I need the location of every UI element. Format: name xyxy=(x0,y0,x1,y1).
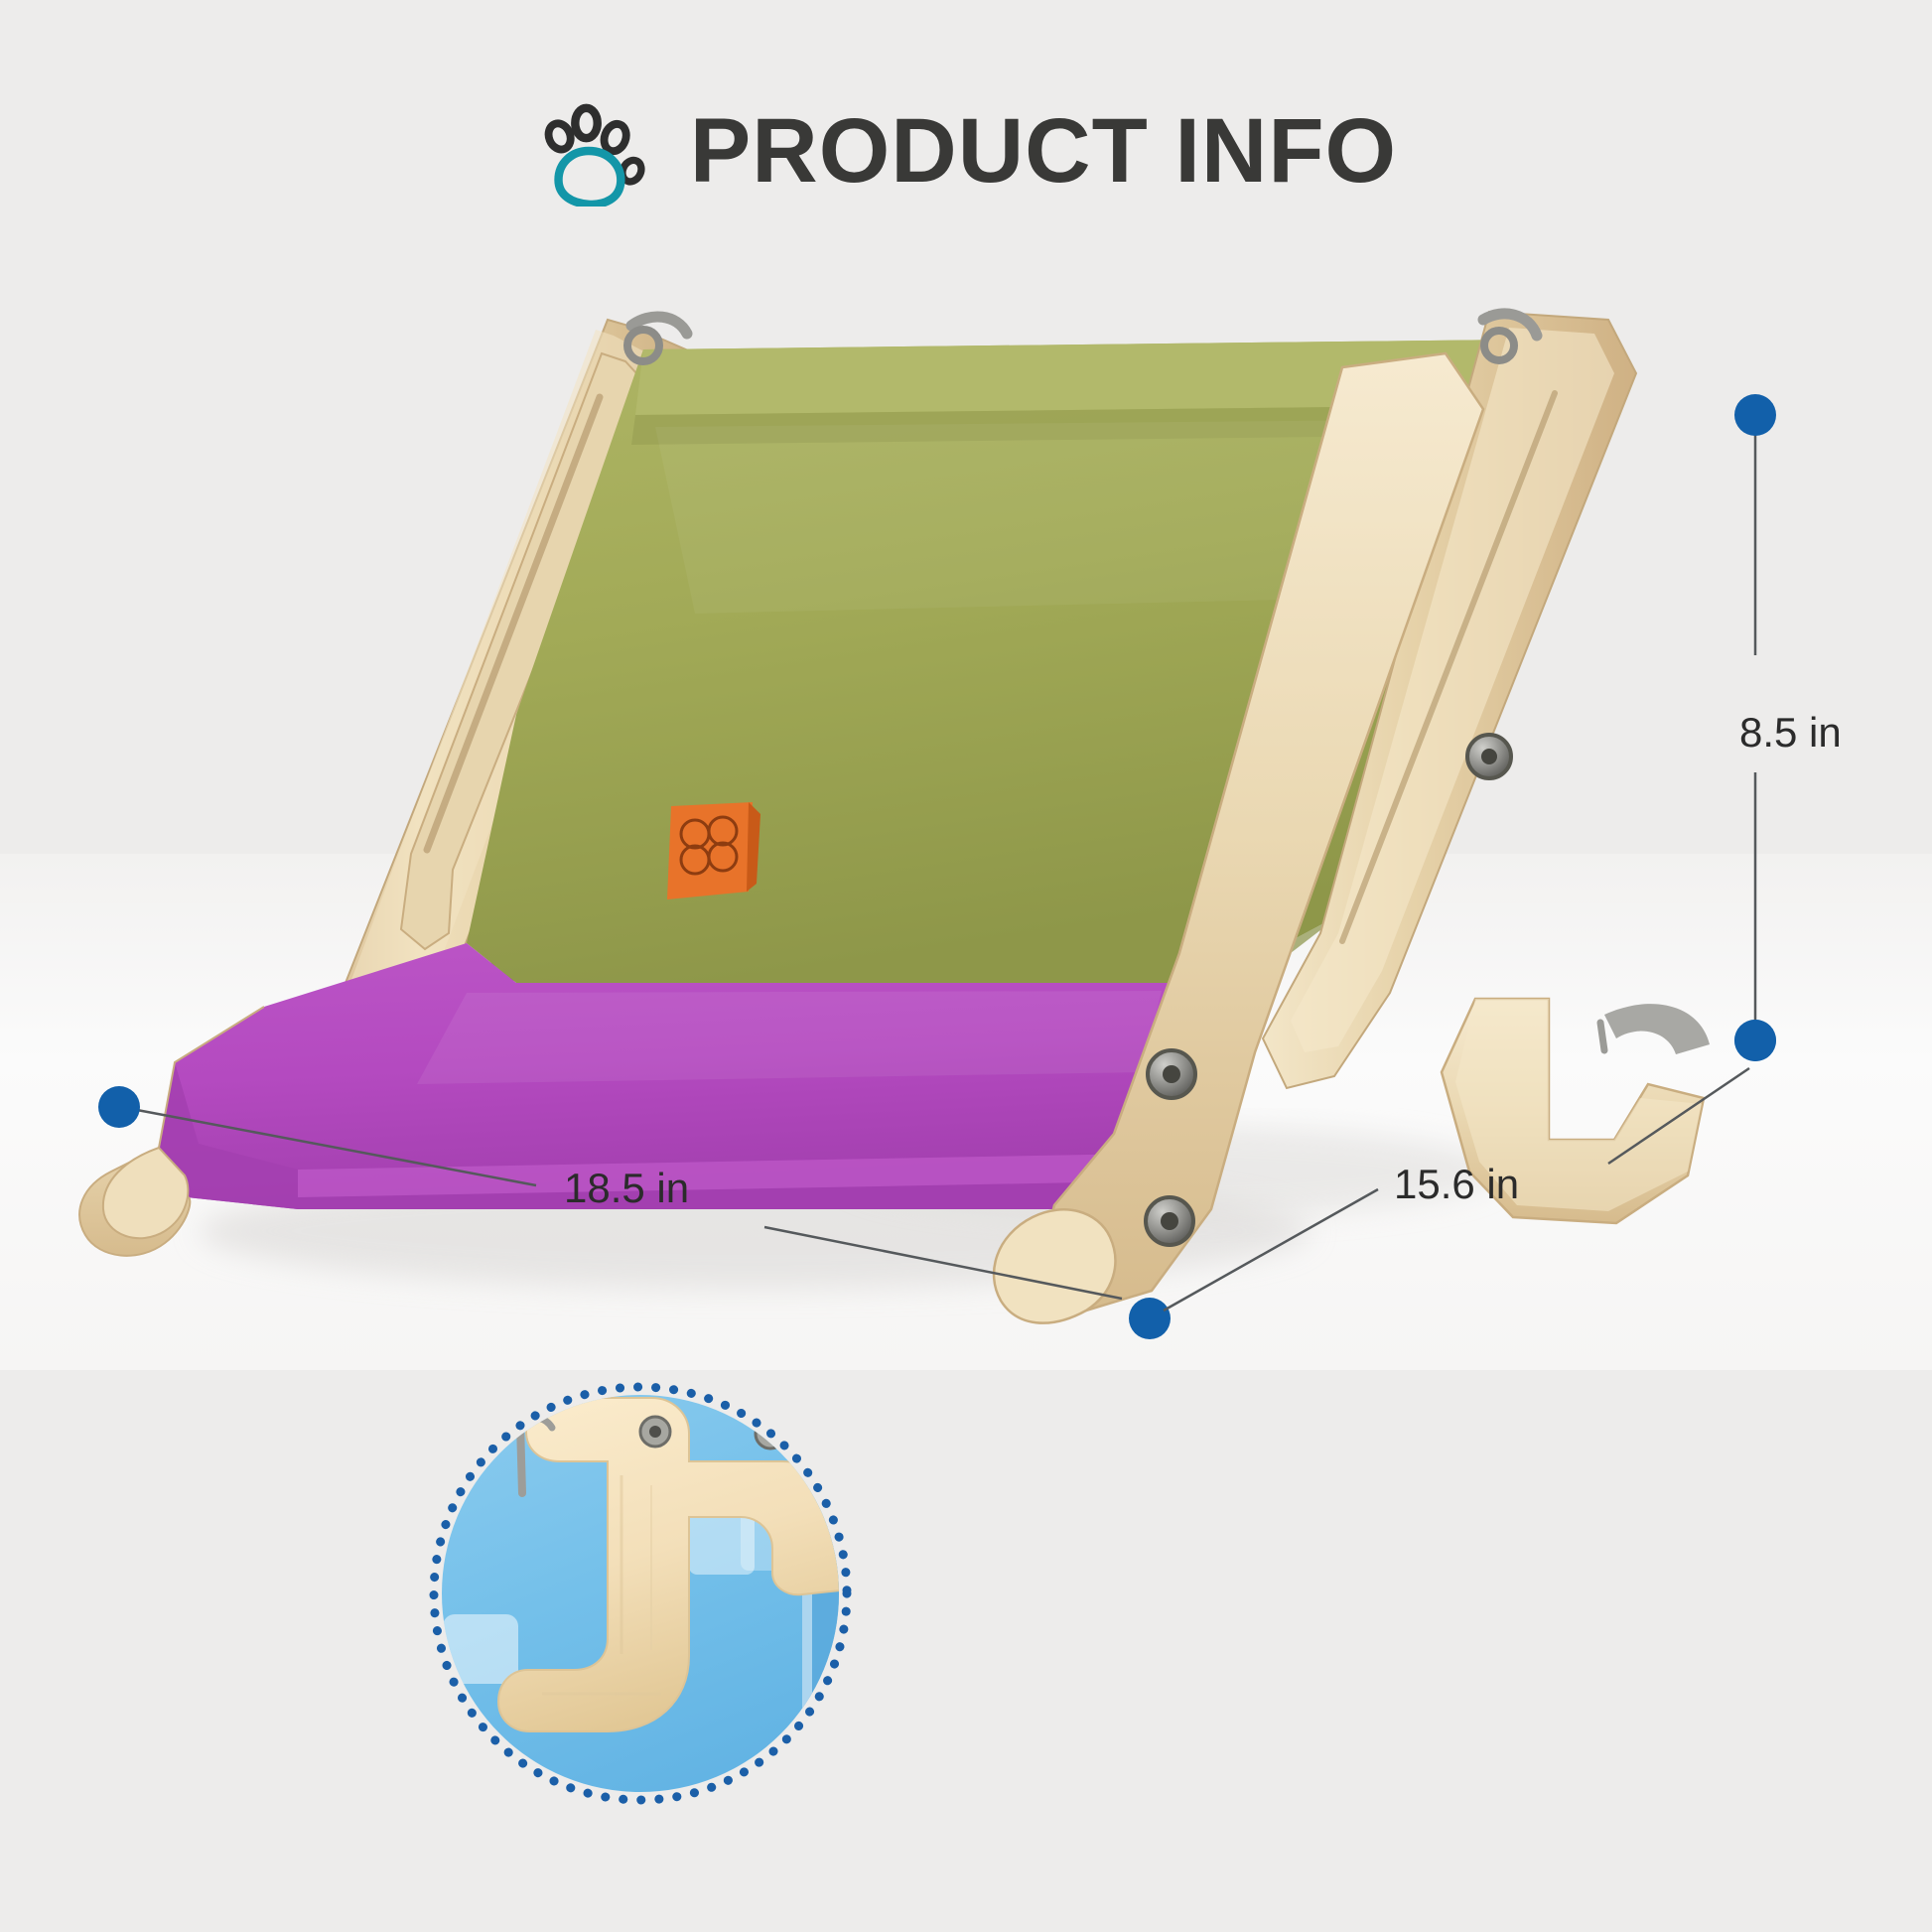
product-info-infographic: PRODUCT INFO xyxy=(0,0,1932,1932)
dimension-label-depth: 15.6 in xyxy=(1394,1161,1519,1208)
product-illustration xyxy=(0,298,1932,1370)
dimension-label-height: 8.5 in xyxy=(1739,709,1842,757)
capacity-section: Hold up to 40Lbs 20 KG xyxy=(0,1360,1932,1932)
dimension-label-width: 18.5 in xyxy=(564,1165,689,1212)
page-header: PRODUCT INFO xyxy=(0,95,1932,207)
paw-icon xyxy=(535,95,646,207)
lower-purple-canvas xyxy=(159,943,1231,1209)
bracket-detail-inset xyxy=(427,1380,854,1807)
page-title: PRODUCT INFO xyxy=(690,105,1397,197)
product-scene xyxy=(0,298,1932,1370)
brand-tag xyxy=(667,802,760,899)
